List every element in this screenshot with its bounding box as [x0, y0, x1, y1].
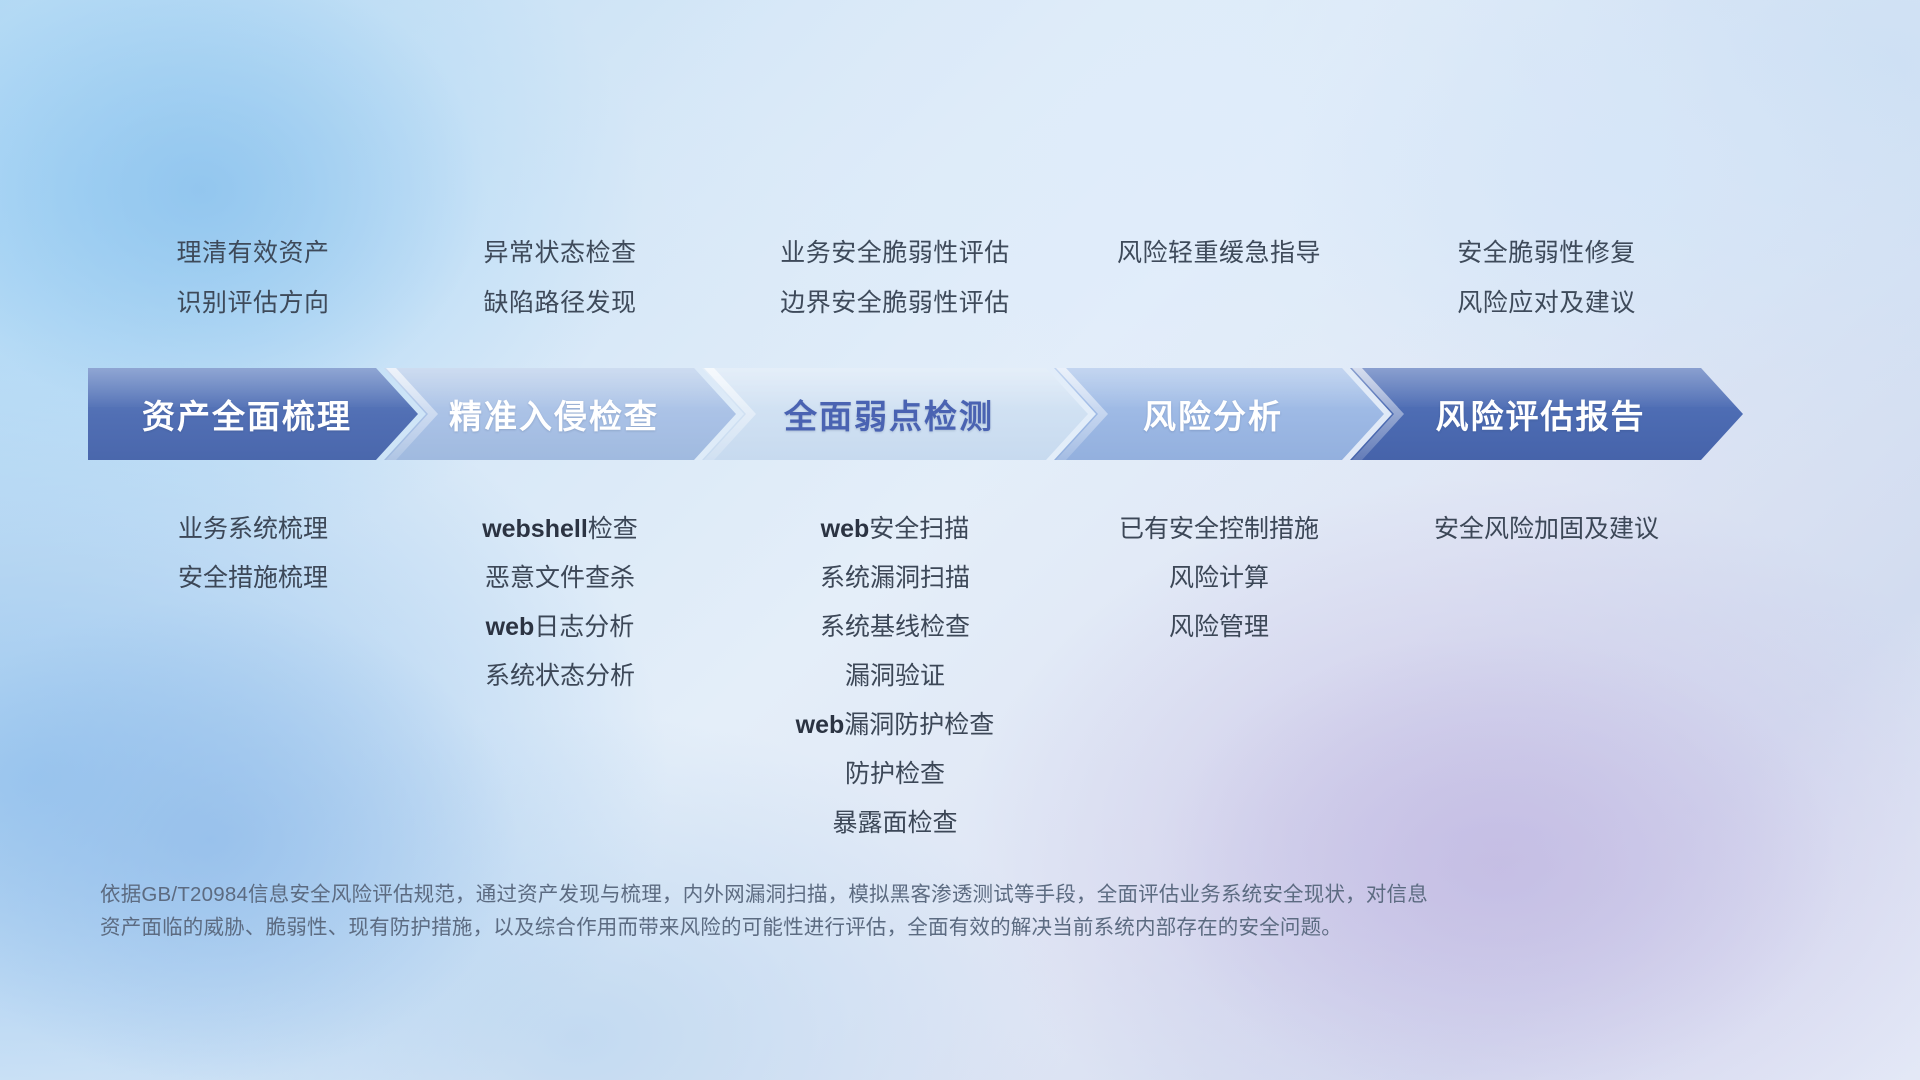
detail-item-text: 防护检查	[845, 760, 945, 788]
detail-item-keyword: web	[821, 515, 870, 543]
detail-list-stage-2: webshell检查 恶意文件查杀 web日志分析 系统状态分析	[384, 505, 736, 848]
top-description-line: 异常状态检查	[384, 228, 736, 278]
detail-item-text: 安全扫描	[869, 515, 969, 543]
detail-item-text: 安全风险加固及建议	[1434, 515, 1659, 543]
process-step-asset-inventory[interactable]: 资产全面梳理	[88, 368, 418, 460]
detail-item-text: 恶意文件查杀	[485, 564, 635, 592]
process-step-label: 资产全面梳理	[142, 390, 352, 438]
detail-list-item: 暴露面检查	[702, 799, 1088, 848]
process-step-intrusion-check[interactable]: 精准入侵检查	[384, 368, 736, 460]
top-description-line: 缺陷路径发现	[384, 278, 736, 328]
background-wash-bottom-left	[0, 520, 620, 1080]
process-step-risk-report[interactable]: 风险评估报告	[1350, 368, 1743, 460]
stage-detail-lists: 业务系统梳理 安全措施梳理 webshell检查 恶意文件查杀 web日志分析 …	[0, 505, 1920, 848]
top-description-line: 识别评估方向	[88, 278, 418, 328]
top-description-line: 业务安全脆弱性评估	[702, 228, 1088, 278]
top-description-line: 安全脆弱性修复	[1350, 228, 1743, 278]
top-descriptions-stage-5: 安全脆弱性修复 风险应对及建议	[1350, 228, 1743, 328]
process-step-label: 风险分析	[1143, 390, 1283, 438]
detail-item-text: 漏洞验证	[845, 662, 945, 690]
detail-item-text: 业务系统梳理	[178, 515, 328, 543]
detail-item-text: 安全措施梳理	[178, 564, 328, 592]
detail-list-item: web安全扫描	[702, 505, 1088, 554]
detail-item-text: 暴露面检查	[832, 809, 957, 837]
detail-list-item: 系统状态分析	[384, 652, 736, 701]
footer-line-2: 资产面临的威胁、脆弱性、现有防护措施，以及综合作用而带来风险的可能性进行评估，全…	[100, 911, 1720, 944]
process-step-label: 精准入侵检查	[449, 390, 659, 438]
detail-item-text: 系统基线检查	[820, 613, 970, 641]
slide-canvas: 理清有效资产 识别评估方向 异常状态检查 缺陷路径发现 业务安全脆弱性评估 边界…	[0, 0, 1920, 1080]
detail-list-stage-1: 业务系统梳理 安全措施梳理	[88, 505, 418, 848]
detail-list-stage-3: web安全扫描 系统漏洞扫描 系统基线检查 漏洞验证 web漏洞防护检查 防护检…	[702, 505, 1088, 848]
footer-description: 依据GB/T20984信息安全风险评估规范，通过资产发现与梳理，内外网漏洞扫描，…	[100, 878, 1720, 944]
top-description-line: 风险应对及建议	[1350, 278, 1743, 328]
process-step-label: 全面弱点检测	[784, 390, 994, 438]
detail-item-text: 日志分析	[534, 613, 634, 641]
top-descriptions-stage-3: 业务安全脆弱性评估 边界安全脆弱性评估	[702, 228, 1088, 328]
detail-item-text: 已有安全控制措施	[1119, 515, 1319, 543]
detail-list-item: web漏洞防护检查	[702, 701, 1088, 750]
detail-list-item: 防护检查	[702, 750, 1088, 799]
process-step-weakness-detection[interactable]: 全面弱点检测	[702, 368, 1088, 460]
detail-item-text: 检查	[588, 515, 638, 543]
process-arrow-banner: 资产全面梳理 精准入侵检查 全面弱点检测 风险分析 风险评估报告	[88, 368, 1845, 460]
process-step-label: 风险评估报告	[1436, 390, 1646, 438]
top-description-line: 边界安全脆弱性评估	[702, 278, 1088, 328]
top-description-line: 风险轻重缓急指导	[1054, 228, 1384, 278]
detail-list-item: 风险管理	[1054, 603, 1384, 652]
detail-item-keyword: web	[486, 613, 535, 641]
detail-list-item: 业务系统梳理	[88, 505, 418, 554]
stage-top-descriptions: 理清有效资产 识别评估方向 异常状态检查 缺陷路径发现 业务安全脆弱性评估 边界…	[0, 228, 1920, 328]
detail-item-text: 风险管理	[1169, 613, 1269, 641]
top-descriptions-stage-2: 异常状态检查 缺陷路径发现	[384, 228, 736, 328]
detail-list-item: 安全措施梳理	[88, 554, 418, 603]
detail-list-item: 恶意文件查杀	[384, 554, 736, 603]
top-descriptions-stage-4: 风险轻重缓急指导	[1054, 228, 1384, 328]
process-step-risk-analysis[interactable]: 风险分析	[1054, 368, 1384, 460]
top-description-line: 理清有效资产	[88, 228, 418, 278]
footer-line-1: 依据GB/T20984信息安全风险评估规范，通过资产发现与梳理，内外网漏洞扫描，…	[100, 878, 1720, 911]
detail-list-stage-4: 已有安全控制措施 风险计算 风险管理	[1054, 505, 1384, 848]
detail-item-keyword: webshell	[482, 515, 588, 543]
detail-list-item: 漏洞验证	[702, 652, 1088, 701]
detail-list-item: 已有安全控制措施	[1054, 505, 1384, 554]
detail-list-item: 系统基线检查	[702, 603, 1088, 652]
detail-list-item: 系统漏洞扫描	[702, 554, 1088, 603]
detail-list-item: web日志分析	[384, 603, 736, 652]
detail-item-text: 风险计算	[1169, 564, 1269, 592]
background-wash-bottom-right	[1050, 560, 1920, 1080]
detail-item-text: 系统状态分析	[485, 662, 635, 690]
detail-list-stage-5: 安全风险加固及建议	[1350, 505, 1743, 848]
top-descriptions-stage-1: 理清有效资产 识别评估方向	[88, 228, 418, 328]
detail-list-item: 安全风险加固及建议	[1350, 505, 1743, 554]
detail-item-text: 系统漏洞扫描	[820, 564, 970, 592]
detail-item-keyword: web	[796, 711, 845, 739]
detail-list-item: 风险计算	[1054, 554, 1384, 603]
detail-item-text: 漏洞防护检查	[844, 711, 994, 739]
detail-list-item: webshell检查	[384, 505, 736, 554]
